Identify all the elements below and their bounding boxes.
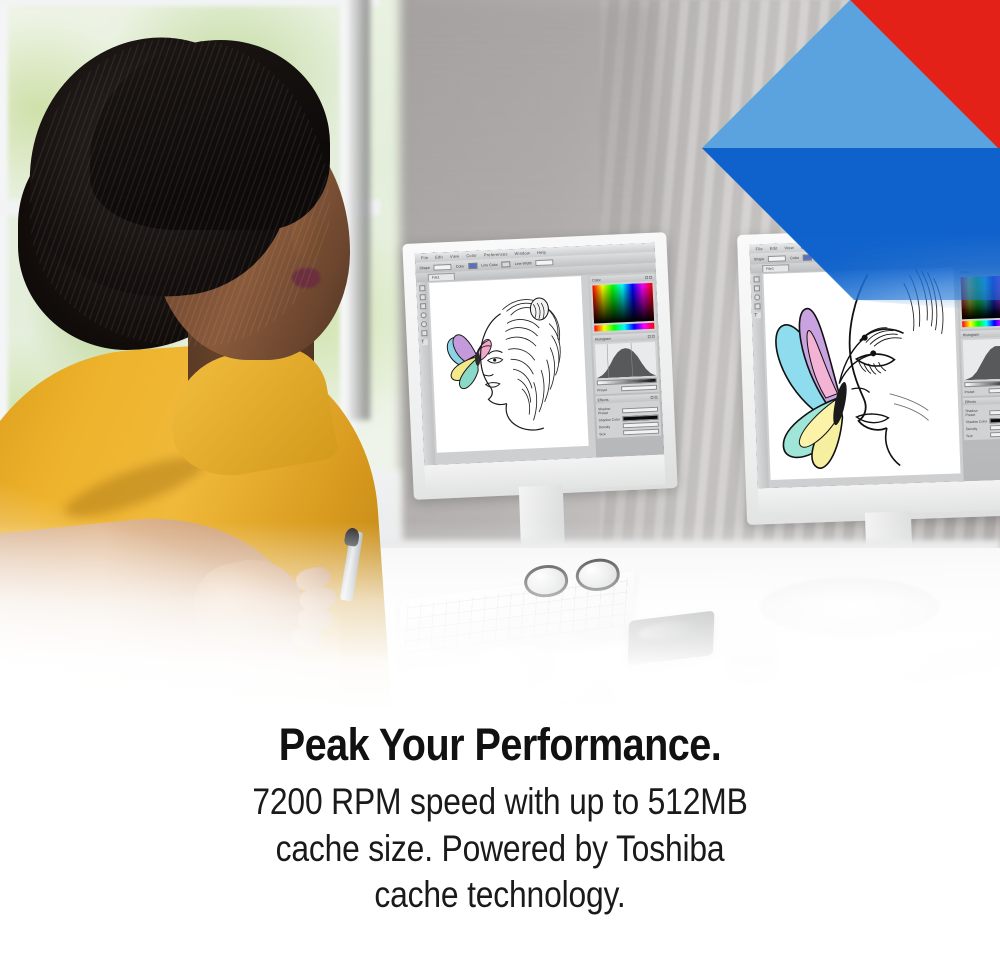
histogram-preset-label: Preset: [965, 389, 987, 394]
shadow-preset-label: Shadow Preset: [598, 406, 620, 415]
rectangle-tool-icon[interactable]: [753, 285, 759, 291]
marketing-copy: Peak Your Performance. 7200 RPM speed wi…: [0, 710, 1000, 969]
crop-tool-icon[interactable]: [421, 330, 427, 336]
shape-label: Shape: [419, 265, 430, 269]
subcopy-line-2: cache size. Powered by Toshiba: [70, 826, 930, 873]
butterfly-artwork-right: [763, 268, 960, 481]
rectangle-tool-icon[interactable]: [419, 294, 425, 300]
shadow-preset-row[interactable]: Shadow Preset: [965, 408, 1000, 418]
door-edge: [344, 0, 370, 420]
color-panel[interactable]: Color: [958, 267, 1000, 330]
menu-item-color[interactable]: Color: [801, 244, 812, 249]
histogram-graph: [963, 339, 1000, 381]
shape-select[interactable]: [768, 255, 786, 262]
marketing-banner: File Edit View Color Preferences Window …: [0, 0, 1000, 969]
hue-slider[interactable]: [962, 320, 1000, 328]
document-tab[interactable]: File1: [762, 264, 789, 272]
menu-item-preferences[interactable]: Preferences: [818, 243, 842, 249]
histogram-graph: [595, 342, 656, 379]
panel-window-buttons[interactable]: [650, 396, 658, 399]
line-width-label: Line Width: [849, 253, 866, 258]
line-width-label: Line Width: [515, 261, 532, 266]
histogram-panel-body[interactable]: Preset: [593, 340, 659, 395]
graphics-app-right: File Edit View Color Preferences Window …: [749, 235, 1000, 488]
headline: Peak Your Performance.: [60, 710, 940, 768]
pointer-tool-icon[interactable]: [419, 285, 425, 291]
tone-strip[interactable]: [964, 381, 1000, 388]
histogram-panel[interactable]: Histogram: [961, 329, 1000, 396]
monitor-right: File Edit View Color Preferences Window …: [737, 225, 1000, 525]
hue-slider[interactable]: [594, 323, 654, 332]
document-tab[interactable]: File1: [428, 273, 455, 281]
panel-dock-right: Color Histogram: [956, 264, 1000, 481]
histogram-panel-body[interactable]: Preset: [961, 336, 1000, 396]
window-frame-horizontal: [0, 0, 380, 6]
line-color-swatch[interactable]: [836, 253, 845, 259]
line-width-input[interactable]: [870, 251, 888, 258]
line-color-swatch[interactable]: [502, 261, 511, 267]
color-field[interactable]: [592, 283, 654, 324]
histogram-preset-select[interactable]: [989, 388, 1000, 394]
histogram-panel-title: Histogram: [963, 332, 980, 337]
shape-select[interactable]: [434, 263, 452, 270]
color-label: Color: [456, 264, 465, 268]
size-label: Size: [599, 431, 621, 436]
monitor-left: File Edit View Color Preferences Window …: [402, 232, 677, 500]
menu-item-help[interactable]: Help: [537, 250, 546, 255]
density-input[interactable]: [990, 424, 1000, 430]
shape-label: Shape: [754, 257, 765, 261]
shadow-color-swatch[interactable]: [622, 415, 658, 422]
density-label: Density: [599, 424, 621, 429]
histogram-preset-select[interactable]: [621, 385, 657, 392]
line-width-input[interactable]: [536, 259, 554, 266]
shadow-preset-row[interactable]: Shadow Preset: [598, 405, 658, 416]
graphics-app-left: File Edit View Color Preferences Window …: [415, 243, 664, 466]
effects-panel-title: Effects: [965, 399, 976, 403]
histogram-curve: [963, 339, 1000, 381]
density-input[interactable]: [623, 422, 659, 429]
monitor-right-screen[interactable]: File Edit View Color Preferences Window …: [749, 235, 1000, 488]
shadow-color-swatch[interactable]: [990, 418, 1000, 424]
menu-item-view[interactable]: View: [784, 245, 794, 250]
menu-item-preferences[interactable]: Preferences: [484, 251, 508, 257]
size-row[interactable]: Size: [966, 431, 1000, 438]
panel-dock-left: Color Histogram: [588, 272, 664, 458]
menu-item-help[interactable]: Help: [872, 242, 881, 247]
canvas-left[interactable]: [429, 276, 589, 453]
shadow-color-label: Shadow Color: [598, 417, 620, 422]
menu-item-edit[interactable]: Edit: [770, 246, 778, 251]
histogram-preset-row[interactable]: Preset: [597, 385, 657, 393]
effects-panel-body[interactable]: Shadow Preset Shadow Color Density: [963, 403, 1000, 440]
histogram-panel[interactable]: Histogram: [593, 333, 660, 395]
size-row[interactable]: Size: [599, 429, 659, 437]
menu-item-file[interactable]: File: [755, 246, 762, 251]
subcopy: 7200 RPM speed with up to 512MB cache si…: [70, 768, 930, 919]
shadow-preset-select[interactable]: [622, 406, 658, 413]
canvas-right[interactable]: [763, 268, 960, 481]
shadow-preset-label: Shadow Preset: [965, 408, 987, 417]
size-label: Size: [966, 433, 988, 438]
polygon-tool-icon[interactable]: [420, 303, 426, 309]
pointer-tool-icon[interactable]: [753, 276, 759, 282]
line-color-label: Line Color: [481, 262, 498, 267]
subcopy-line-3: cache technology.: [70, 872, 930, 919]
color-field[interactable]: [961, 276, 1000, 320]
histogram-preset-row[interactable]: Preset: [965, 388, 1000, 395]
fill-color-swatch[interactable]: [468, 262, 477, 268]
menu-item-edit[interactable]: Edit: [435, 254, 443, 259]
effects-panel-body[interactable]: Shadow Preset Shadow Color Density: [596, 401, 662, 439]
color-panel-body[interactable]: [590, 281, 656, 334]
line-color-label: Line Color: [816, 254, 833, 259]
size-input[interactable]: [623, 429, 659, 436]
ellipse-tool-icon[interactable]: [754, 294, 760, 300]
histogram-curve: [595, 342, 656, 379]
color-panel-body[interactable]: [959, 274, 1000, 330]
text-tool-icon[interactable]: T: [754, 312, 760, 318]
histogram-panel-title: Histogram: [595, 336, 612, 341]
menu-item-window[interactable]: Window: [514, 250, 530, 256]
menu-item-window[interactable]: Window: [849, 243, 865, 249]
histogram-preset-label: Preset: [597, 387, 619, 392]
text-tool-icon[interactable]: T: [421, 339, 427, 345]
fill-color-swatch[interactable]: [803, 254, 812, 260]
size-input[interactable]: [990, 431, 1000, 437]
panel-window-buttons[interactable]: [647, 335, 655, 338]
hero-photo: File Edit View Color Preferences Window …: [0, 0, 1000, 712]
crop-tool-icon[interactable]: [754, 303, 760, 309]
subcopy-line-1: 7200 RPM speed with up to 512MB: [70, 779, 930, 826]
zoom-tool-icon[interactable]: [420, 312, 426, 318]
menu-item-color[interactable]: Color: [466, 253, 477, 258]
color-label: Color: [790, 255, 799, 259]
bottom-white-fade: [0, 522, 1000, 712]
panel-window-buttons[interactable]: [645, 276, 653, 279]
effects-panel-title: Effects: [598, 397, 609, 401]
color-panel[interactable]: Color: [590, 274, 657, 334]
effects-panel[interactable]: Effects Shadow Preset Shadow Color: [963, 396, 1000, 440]
ellipse-tool-icon[interactable]: [420, 321, 426, 327]
density-row[interactable]: Density: [966, 424, 1000, 431]
shadow-color-row[interactable]: Shadow Color: [966, 418, 1000, 425]
color-panel-title: Color: [592, 278, 601, 282]
effects-panel[interactable]: Effects Shadow Preset Shadow Color: [595, 394, 661, 439]
color-panel-title: Color: [960, 269, 969, 273]
monitor-left-screen[interactable]: File Edit View Color Preferences Window …: [415, 243, 664, 466]
shadow-preset-select[interactable]: [989, 409, 1000, 415]
menu-item-view[interactable]: View: [450, 254, 460, 259]
shadow-color-label: Shadow Color: [966, 419, 988, 424]
density-label: Density: [966, 426, 988, 431]
sketch-artwork-left: [429, 276, 589, 453]
menu-item-file[interactable]: File: [421, 255, 428, 260]
